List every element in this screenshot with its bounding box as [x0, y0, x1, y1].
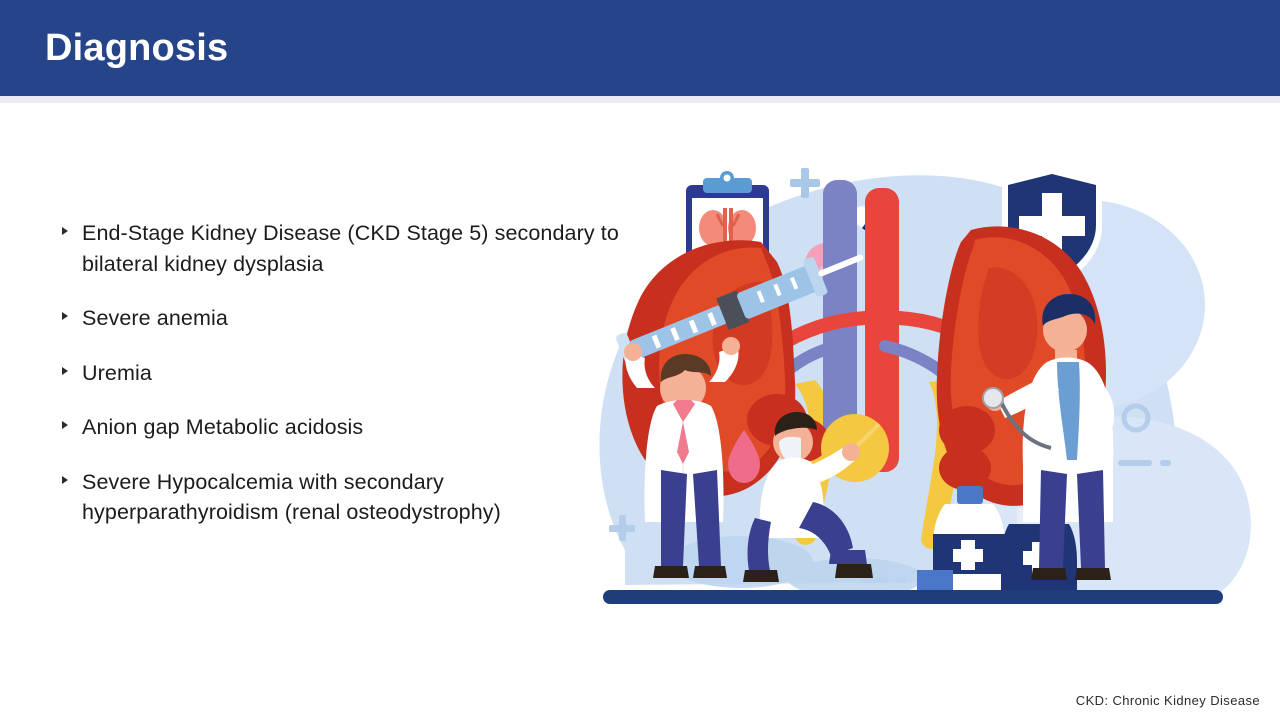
- list-item: Uremia: [60, 358, 620, 389]
- list-item-label: Severe Hypocalcemia with secondary hyper…: [82, 470, 501, 525]
- list-item: Severe Hypocalcemia with secondary hyper…: [60, 467, 620, 528]
- list-item: Severe anemia: [60, 303, 620, 334]
- triangle-bullet-icon: [62, 476, 68, 484]
- page-title: Diagnosis: [45, 26, 228, 72]
- list-item: End-Stage Kidney Disease (CKD Stage 5) s…: [60, 218, 620, 279]
- hand: [624, 343, 642, 361]
- header-underline: [0, 96, 1280, 103]
- dash-decoration: [1160, 460, 1171, 466]
- list-item-label: Anion gap Metabolic acidosis: [82, 415, 363, 439]
- triangle-bullet-icon: [62, 367, 68, 375]
- dash-decoration: [1118, 460, 1152, 466]
- triangle-bullet-icon: [62, 312, 68, 320]
- floor-bar: [603, 590, 1223, 604]
- list-item-label: Uremia: [82, 361, 152, 385]
- kidney-care-illustration: [565, 130, 1265, 630]
- list-item-label: Severe anemia: [82, 306, 228, 330]
- list-item: Anion gap Metabolic acidosis: [60, 412, 620, 443]
- triangle-bullet-icon: [62, 421, 68, 429]
- abbreviation-footnote: CKD: Chronic Kidney Disease: [1076, 693, 1260, 708]
- hand: [722, 337, 740, 355]
- triangle-bullet-icon: [62, 227, 68, 235]
- diagnosis-bullet-list: End-Stage Kidney Disease (CKD Stage 5) s…: [60, 218, 620, 528]
- list-item-label: End-Stage Kidney Disease (CKD Stage 5) s…: [82, 221, 619, 276]
- slide: Diagnosis End-Stage Kidney Disease (CKD …: [0, 0, 1280, 720]
